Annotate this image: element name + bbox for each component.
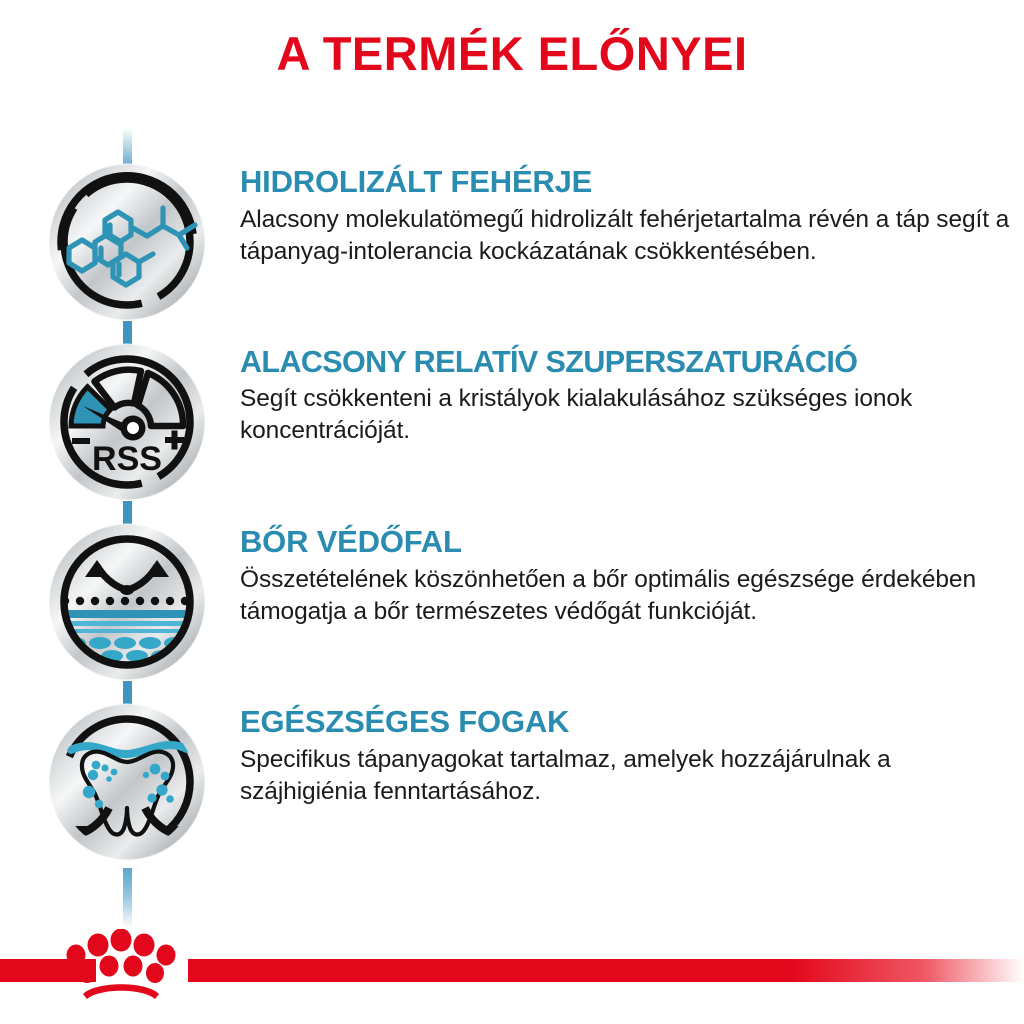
benefit-body: Segít csökkenteni a kristályok kialakulá… [240, 383, 1010, 447]
benefit-body: Alacsony molekulatömegű hidrolizált fehé… [240, 204, 1010, 268]
benefit-text: BŐR VÉDŐFAL Összetételének köszönhetően … [240, 522, 1010, 628]
rss-gauge-label: RSS [92, 440, 162, 478]
benefit-row: BŐR VÉDŐFAL Összetételének köszönhetően … [0, 522, 1024, 682]
page-title: A TERMÉK ELŐNYEI [0, 26, 1024, 81]
benefit-body: Specifikus tápanyagokat tartalmaz, amely… [240, 744, 1010, 808]
benefit-heading: ALACSONY RELATÍV SZUPERSZATURÁCIÓ [240, 346, 1010, 378]
benefit-text: EGÉSZSÉGES FOGAK Specifikus tápanyagokat… [240, 702, 1010, 808]
benefit-row: RSS ALACSONY RELATÍV SZUPERSZATURÁCIÓ Se… [0, 342, 1024, 502]
royal-canin-crown-logo [62, 929, 180, 1001]
benefit-body: Összetételének köszönhetően a bőr optimá… [240, 564, 1010, 628]
footer-bar-right [188, 959, 1024, 982]
benefit-text: HIDROLIZÁLT FEHÉRJE Alacsony molekulatöm… [240, 162, 1010, 268]
molecule-icon [47, 162, 207, 322]
benefits-infographic: A TERMÉK ELŐNYEI [0, 0, 1024, 1024]
benefit-row: HIDROLIZÁLT FEHÉRJE Alacsony molekulatöm… [0, 162, 1024, 322]
tooth-icon [47, 702, 207, 862]
benefit-text: ALACSONY RELATÍV SZUPERSZATURÁCIÓ Segít … [240, 342, 1010, 448]
benefit-heading: EGÉSZSÉGES FOGAK [240, 706, 1010, 739]
connector-line-bottom [123, 868, 132, 928]
skin-barrier-icon [47, 522, 207, 682]
benefit-row: EGÉSZSÉGES FOGAK Specifikus tápanyagokat… [0, 702, 1024, 862]
rss-gauge-icon: RSS [47, 342, 207, 502]
benefit-heading: BŐR VÉDŐFAL [240, 526, 1010, 559]
benefit-heading: HIDROLIZÁLT FEHÉRJE [240, 166, 1010, 199]
